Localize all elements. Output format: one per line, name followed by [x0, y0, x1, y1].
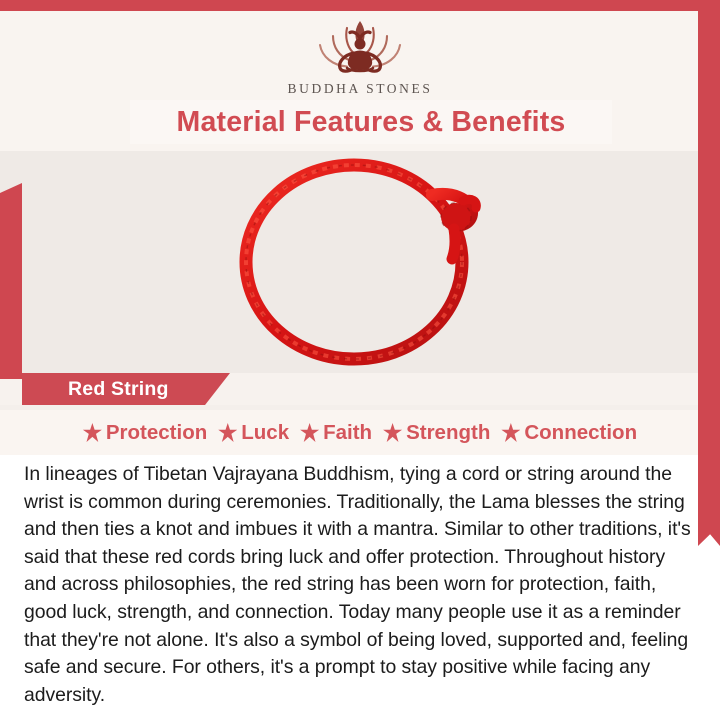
page-title: Material Features & Benefits — [177, 106, 566, 139]
benefits-row: Protection Luck Faith Strength Connectio… — [0, 410, 720, 455]
star-icon — [218, 423, 237, 442]
benefit-item: Luck — [218, 421, 289, 445]
benefit-item: Strength — [383, 421, 490, 445]
benefit-label: Luck — [241, 421, 289, 445]
star-icon — [83, 423, 102, 442]
benefit-item: Connection — [501, 421, 637, 445]
page-title-banner: Material Features & Benefits — [130, 100, 612, 144]
benefit-item: Faith — [300, 421, 372, 445]
description-section: In lineages of Tibetan Vajrayana Buddhis… — [0, 455, 720, 720]
lotus-meditation-figure-icon — [305, 16, 415, 78]
frame-left-bar — [0, 183, 22, 379]
section-ribbon-label: Red String — [68, 378, 169, 401]
red-braided-string-bracelet-icon — [226, 155, 494, 369]
star-icon — [501, 423, 520, 442]
product-image — [0, 151, 720, 373]
star-icon — [383, 423, 402, 442]
benefit-item: Protection — [83, 421, 207, 445]
description-paragraph: In lineages of Tibetan Vajrayana Buddhis… — [24, 461, 696, 709]
brand-logo: BUDDHA STONES — [0, 16, 720, 97]
benefit-label: Faith — [323, 421, 372, 445]
frame-right-bar — [698, 0, 720, 534]
benefit-label: Connection — [524, 421, 637, 445]
benefit-label: Protection — [106, 421, 207, 445]
frame-top-bar — [0, 0, 720, 11]
section-ribbon-red-string: Red String — [22, 373, 230, 405]
star-icon — [300, 423, 319, 442]
brand-name: BUDDHA STONES — [288, 81, 433, 97]
benefit-label: Strength — [406, 421, 490, 445]
infographic-page: BUDDHA STONES Material Features & Benefi… — [0, 0, 720, 720]
